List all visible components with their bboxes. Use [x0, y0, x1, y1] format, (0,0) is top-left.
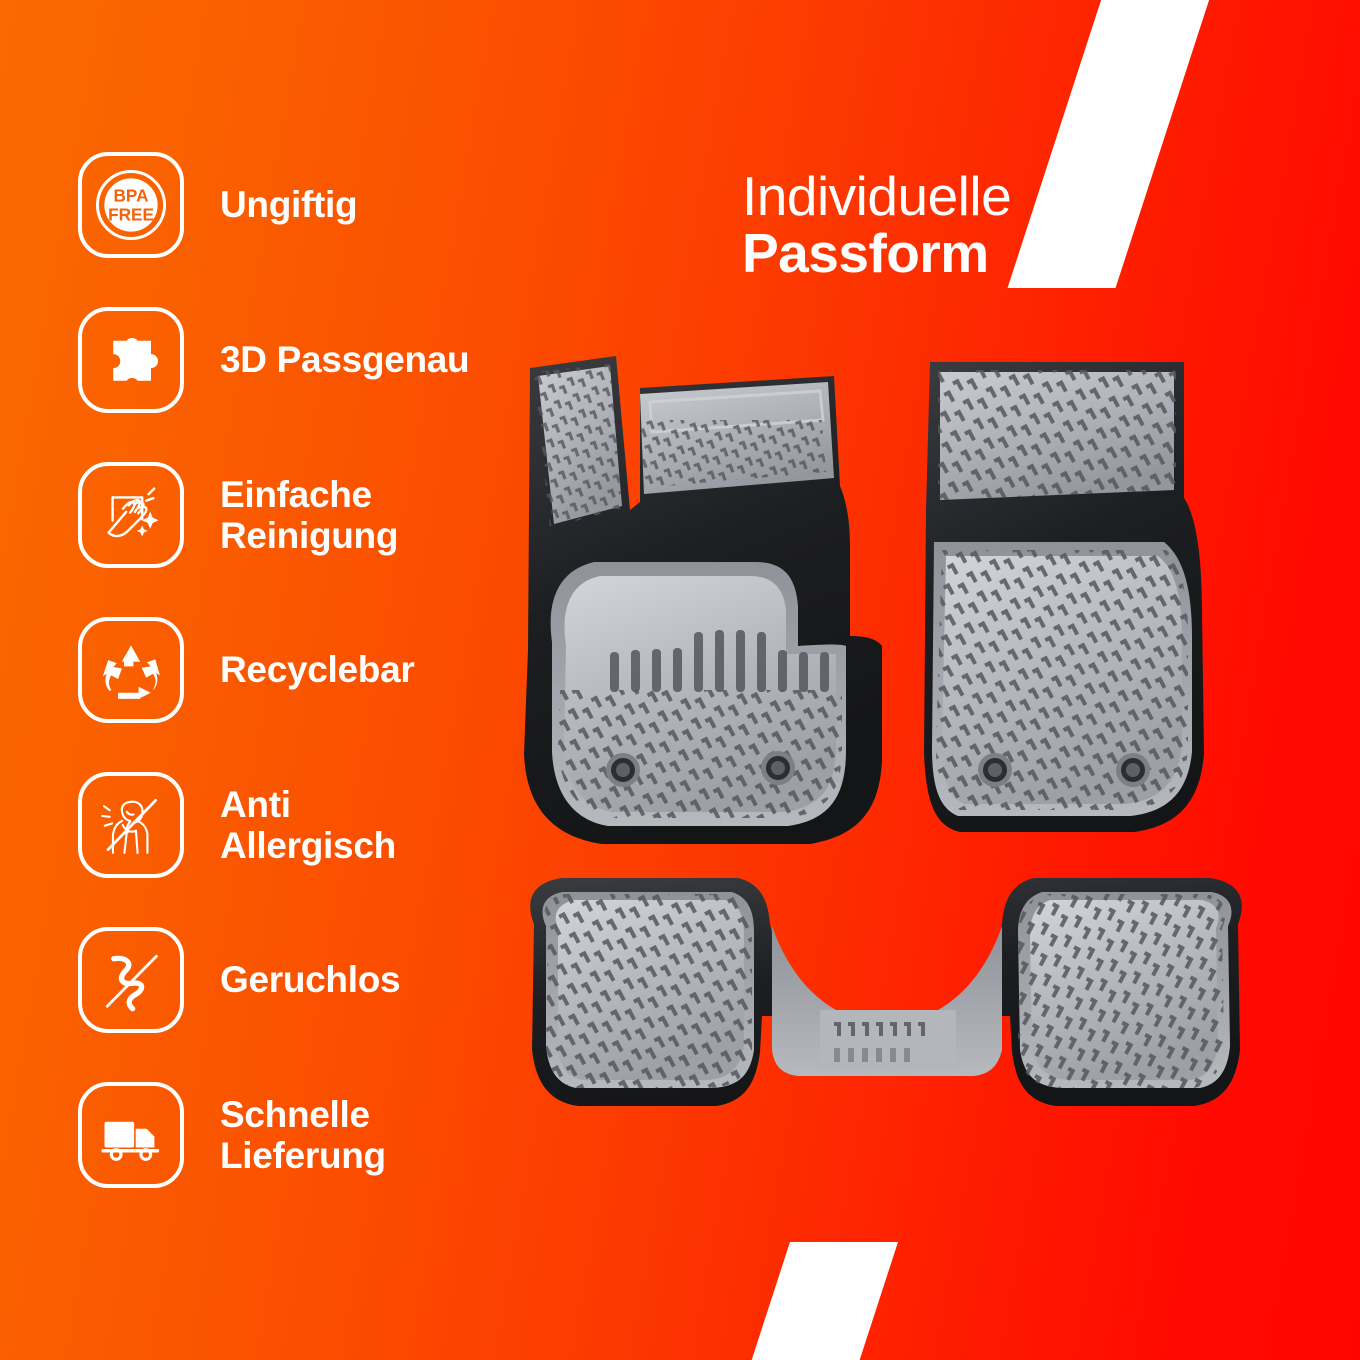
- feature-label-anti-allergisch: Anti Allergisch: [220, 772, 396, 878]
- feature-item-schnelle-lieferung: Schnelle Lieferung: [78, 1082, 518, 1237]
- feature-item-3d-passgenau: 3D Passgenau: [78, 307, 518, 462]
- headline-line-2: Passform: [742, 225, 1011, 282]
- anti-allergic-icon: [78, 772, 184, 878]
- diagonal-stripe-bottom: [748, 1242, 898, 1360]
- odorless-icon: [78, 927, 184, 1033]
- feature-item-recyclebar: Recyclebar: [78, 617, 518, 772]
- fast-delivery-icon: [78, 1082, 184, 1188]
- headline: Individuelle Passform: [742, 168, 1011, 282]
- diagonal-stripe-top: [1008, 0, 1213, 288]
- bpa-badge-line-2: FREE: [108, 204, 154, 224]
- feature-label-recyclebar: Recyclebar: [220, 617, 414, 723]
- feature-label-3d-passgenau: 3D Passgenau: [220, 307, 469, 413]
- feature-label-einfache-reinigung: Einfache Reinigung: [220, 462, 398, 568]
- feature-list: BPA FREE Ungiftig 3D Passgenau: [78, 152, 518, 1237]
- anchor-grommet: [978, 753, 1012, 787]
- bpa-badge-line-1: BPA: [113, 186, 148, 206]
- rear-one-piece-mat: [530, 878, 1242, 1106]
- recycle-icon: [78, 617, 184, 723]
- feature-item-einfache-reinigung: Einfache Reinigung: [78, 462, 518, 617]
- anchor-grommet: [1116, 753, 1150, 787]
- puzzle-piece-icon: [78, 307, 184, 413]
- driver-side-front-mat: [520, 356, 882, 844]
- anchor-grommet: [606, 753, 640, 787]
- feature-item-ungiftig: BPA FREE Ungiftig: [78, 152, 518, 307]
- bpa-free-icon: BPA FREE: [78, 152, 184, 258]
- feature-label-geruchlos: Geruchlos: [220, 927, 400, 1033]
- passenger-side-front-mat: [924, 362, 1210, 832]
- feature-item-geruchlos: Geruchlos: [78, 927, 518, 1082]
- feature-label-schnelle-lieferung: Schnelle Lieferung: [220, 1082, 386, 1188]
- headline-line-1: Individuelle: [742, 168, 1011, 225]
- feature-label-ungiftig: Ungiftig: [220, 152, 357, 258]
- anchor-grommet: [761, 751, 795, 785]
- product-image-car-floor-mat-set: [490, 350, 1280, 1170]
- feature-item-anti-allergisch: Anti Allergisch: [78, 772, 518, 927]
- product-feature-banner: Individuelle Passform BPA FREE Ungiftig: [0, 0, 1360, 1360]
- easy-cleaning-icon: [78, 462, 184, 568]
